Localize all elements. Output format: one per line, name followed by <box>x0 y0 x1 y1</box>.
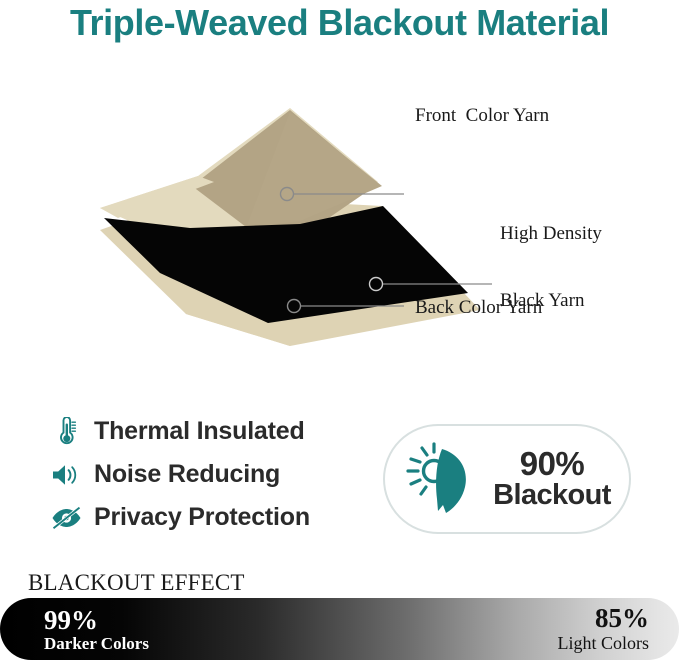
blackout-badge: 90% Blackout <box>383 424 631 534</box>
effect-darker-colors: 99% Darker Colors <box>44 606 149 653</box>
feature-privacy-protection: Privacy Protection <box>48 496 368 539</box>
effect-darker-note: Darker Colors <box>44 635 149 653</box>
feature-list: Thermal Insulated Noise Reducing Privacy… <box>48 410 368 539</box>
feature-label-noise-reducing: Noise Reducing <box>94 460 280 489</box>
effect-light-colors: 85% Light Colors <box>557 604 649 653</box>
blackout-badge-text: 90% Blackout <box>483 447 629 510</box>
effect-light-percent: 85% <box>557 604 649 634</box>
page-title: Triple-Weaved Blackout Material <box>0 2 679 44</box>
effect-light-note: Light Colors <box>557 634 649 654</box>
label-high-density-black-yarn: High Density Black Yarn <box>500 178 602 357</box>
label-back-color-yarn: Back Color Yarn <box>415 297 542 319</box>
thermometer-icon <box>48 415 84 449</box>
feature-noise-reducing: Noise Reducing <box>48 453 368 496</box>
sun-behind-curtain-icon <box>397 439 483 519</box>
blackout-effect-heading: BLACKOUT EFFECT <box>28 570 245 596</box>
feature-label-privacy-protection: Privacy Protection <box>94 503 310 532</box>
blackout-word: Blackout <box>483 481 621 511</box>
fabric-layer-diagram: Front Color Yarn High Density Black Yarn… <box>0 78 679 348</box>
speaker-icon <box>48 458 84 492</box>
label-front-color-yarn: Front Color Yarn <box>415 105 549 127</box>
feature-thermal-insulated: Thermal Insulated <box>48 410 368 453</box>
eye-off-icon <box>48 501 84 535</box>
effect-darker-percent: 99% <box>44 606 149 635</box>
blackout-percent: 90% <box>483 447 621 481</box>
blackout-effect-gradient-bar: 99% Darker Colors 85% Light Colors <box>0 598 679 660</box>
label-high-density-line1: High Density <box>500 223 602 245</box>
feature-label-thermal-insulated: Thermal Insulated <box>94 417 305 446</box>
